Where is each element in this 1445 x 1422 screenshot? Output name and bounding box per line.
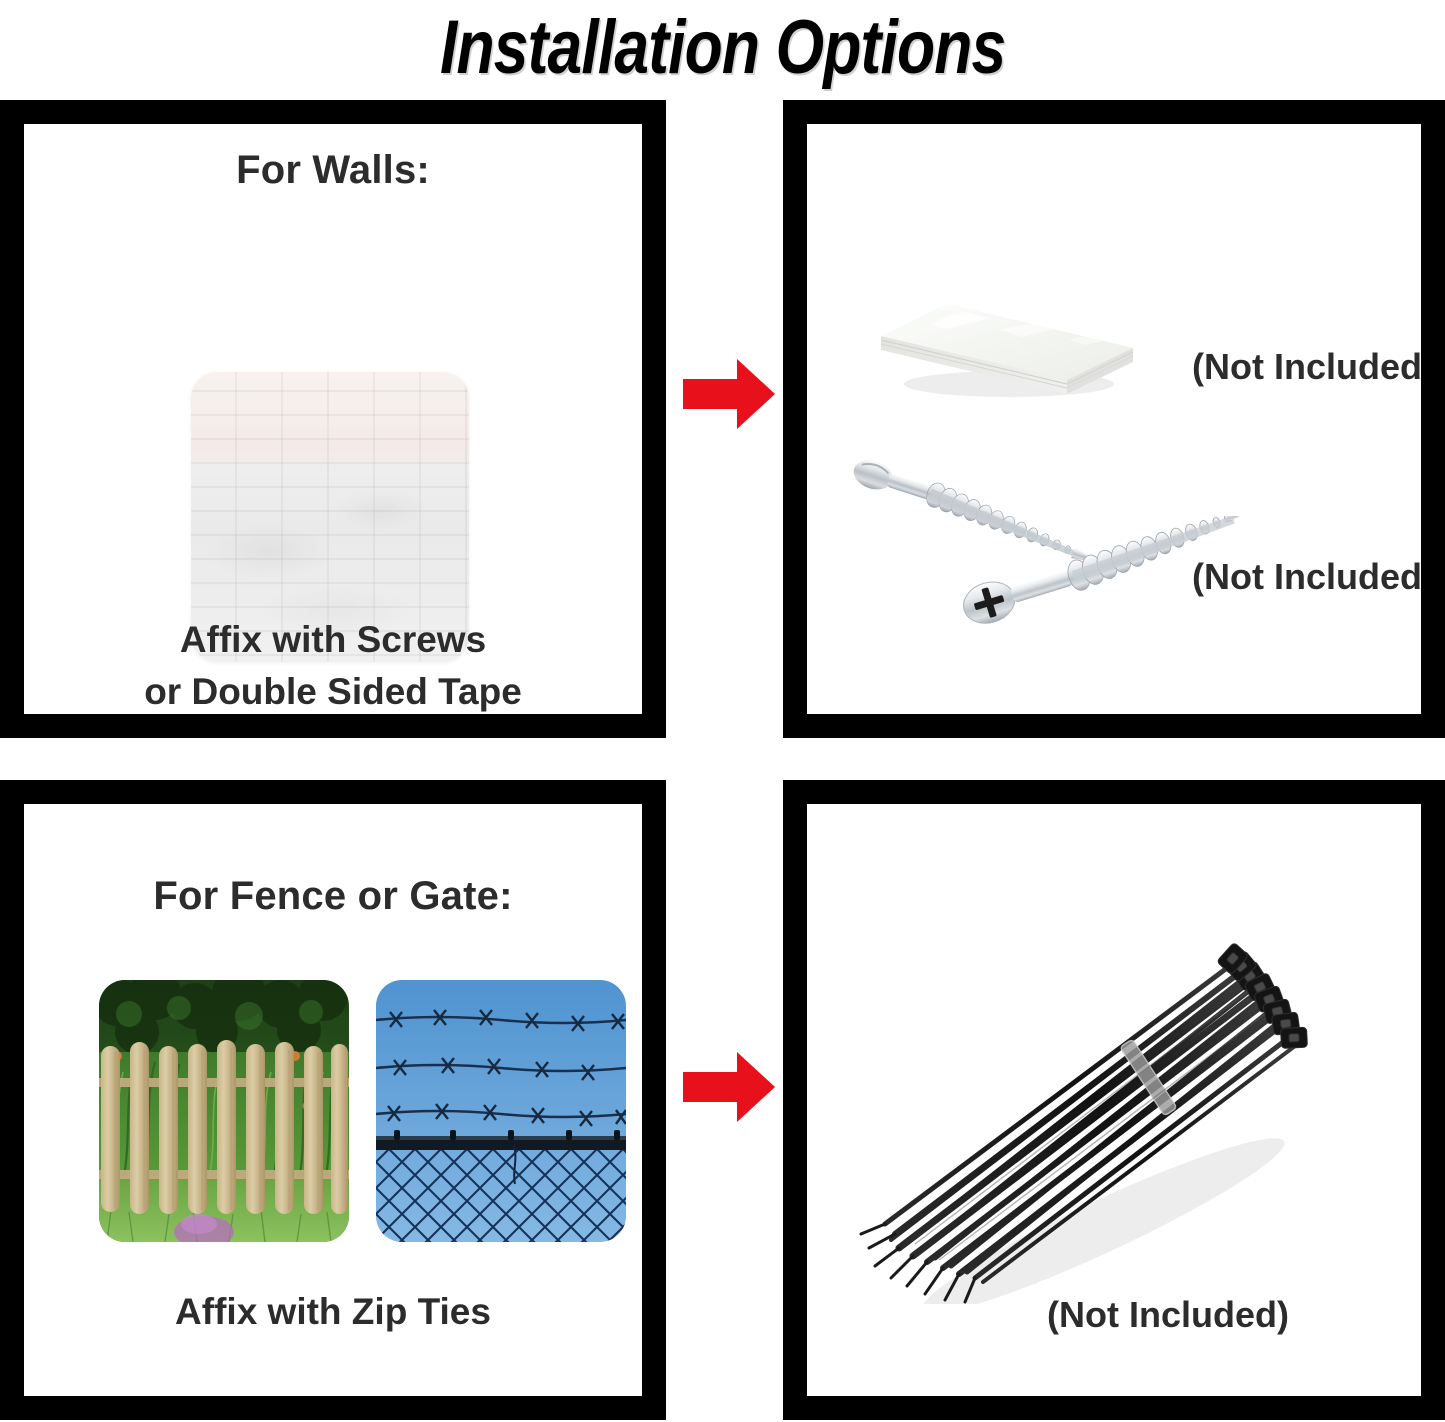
- right-arrow-icon-bottom: [681, 1050, 777, 1124]
- title-bar: Installation Options: [0, 0, 1445, 96]
- wooden-picket-fence-photo: [99, 980, 349, 1242]
- for-fence-caption: Affix with Zip Ties: [24, 1286, 642, 1338]
- panel-for-walls: For Walls: Affix with Screws or Double S…: [0, 100, 666, 738]
- for-walls-caption: Affix with Screws or Double Sided Tape: [24, 614, 642, 714]
- panel-for-fence-or-gate-content: For Fence or Gate:: [24, 804, 642, 1396]
- page-title: Installation Options: [440, 3, 1005, 93]
- caption-line-1: Affix with Screws: [24, 614, 642, 666]
- tape-not-included-label: (Not Included): [1192, 346, 1421, 388]
- black-zip-tie-bundle-icon: [855, 904, 1335, 1304]
- for-walls-heading: For Walls:: [24, 148, 642, 193]
- right-arrow-icon-top: [681, 357, 777, 431]
- zip-ties-not-included-label: (Not Included): [1047, 1294, 1289, 1336]
- double-sided-tape-stack-icon: [869, 232, 1139, 407]
- panel-wall-hardware-content: (Not Included): [807, 124, 1421, 714]
- chain-link-barbed-wire-fence-photo: [376, 980, 626, 1242]
- screws-not-included-label: (Not Included): [1192, 556, 1421, 598]
- caption-line-2: or Double Sided Tape: [24, 666, 642, 714]
- panel-zip-ties-content: (Not Included): [807, 804, 1421, 1396]
- panel-wall-hardware: (Not Included): [783, 100, 1445, 738]
- panel-for-walls-content: For Walls: Affix with Screws or Double S…: [24, 124, 642, 714]
- for-fence-or-gate-heading: For Fence or Gate:: [24, 874, 642, 919]
- panel-for-fence-or-gate: For Fence or Gate:: [0, 780, 666, 1420]
- panel-zip-ties: (Not Included): [783, 780, 1445, 1420]
